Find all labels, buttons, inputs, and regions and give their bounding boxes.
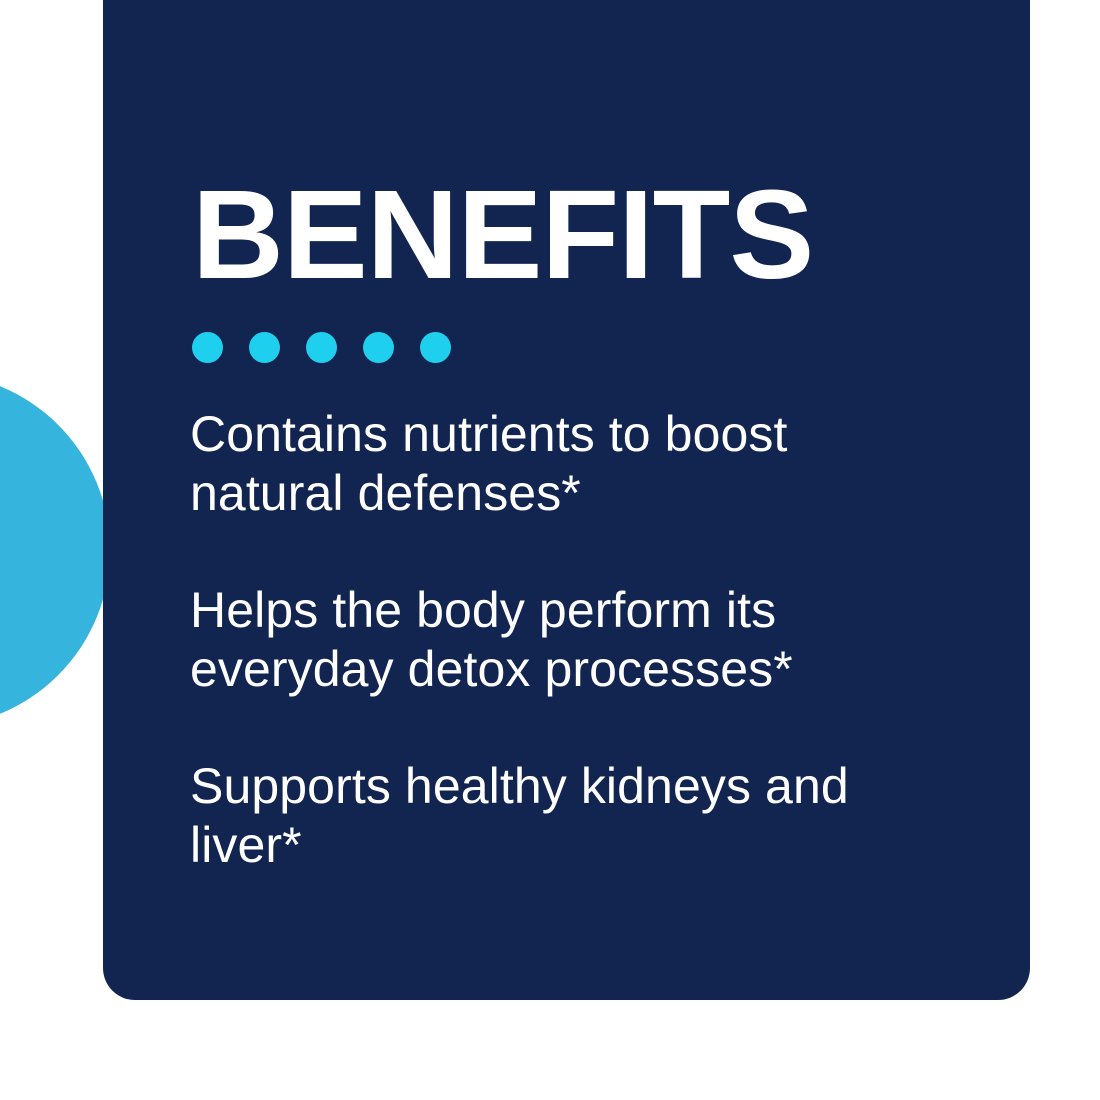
divider-dot-icon [363, 332, 394, 363]
benefit-list: Contains nutrients to boost natural defe… [190, 405, 970, 875]
divider-dot-icon [192, 332, 223, 363]
divider-dot-icon [420, 332, 451, 363]
divider-dot-icon [306, 332, 337, 363]
list-item: Helps the body perform its everyday deto… [190, 581, 950, 699]
list-item: Supports healthy kidneys and liver* [190, 757, 950, 875]
benefits-card-stage: BENEFITS Contains nutrients to boost nat… [0, 0, 1100, 1100]
list-item: Contains nutrients to boost natural defe… [190, 405, 950, 523]
divider-dot-icon [249, 332, 280, 363]
dot-divider [192, 332, 451, 363]
decorative-accent-circle [0, 373, 110, 727]
page-title: BENEFITS [192, 172, 813, 298]
benefits-panel: BENEFITS Contains nutrients to boost nat… [103, 0, 1030, 1000]
